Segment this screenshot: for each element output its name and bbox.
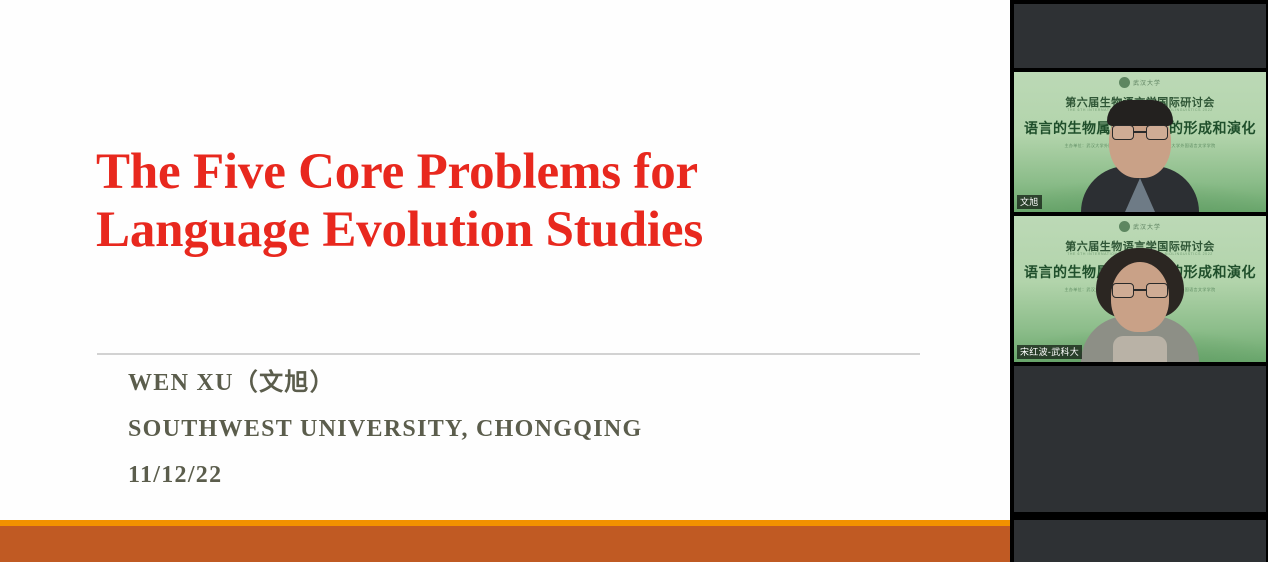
participant-tile[interactable] <box>1014 4 1266 68</box>
university-logo-icon: 武汉大学 <box>1119 221 1161 232</box>
participant-video-person <box>1081 258 1199 362</box>
slide-subtitle-date: 11/12/22 <box>128 452 948 498</box>
slide-subtitle-author: WEN XU（文旭） <box>128 360 948 406</box>
video-feed: 武汉大学 第六届生物语言学国际研讨会 THE 6TH INTERNATIONAL… <box>1014 216 1266 362</box>
participant-name-label: 宋红波-武科大 <box>1017 345 1082 359</box>
slide-subtitle-block: WEN XU（文旭） SOUTHWEST UNIVERSITY, CHONGQI… <box>128 360 948 498</box>
participant-video-person <box>1081 108 1199 212</box>
presentation-slide: The Five Core Problems for Language Evol… <box>0 0 1010 562</box>
slide-accent-band <box>0 526 1010 562</box>
participant-name-label: 文旭 <box>1017 195 1042 209</box>
participant-filmstrip[interactable]: 武汉大学 第六届生物语言学国际研讨会 THE 6TH INTERNATIONAL… <box>1010 0 1268 562</box>
video-feed: 武汉大学 第六届生物语言学国际研讨会 THE 6TH INTERNATIONAL… <box>1014 72 1266 212</box>
university-logo-text: 武汉大学 <box>1133 78 1161 87</box>
slide-divider-rule <box>97 353 920 355</box>
shared-screen-area[interactable]: The Five Core Problems for Language Evol… <box>0 0 1010 562</box>
university-logo-text: 武汉大学 <box>1133 222 1161 231</box>
university-logo-icon: 武汉大学 <box>1119 77 1161 88</box>
video-conference-window: The Five Core Problems for Language Evol… <box>0 0 1268 562</box>
participant-tile[interactable]: 武汉大学 第六届生物语言学国际研讨会 THE 6TH INTERNATIONAL… <box>1014 72 1266 212</box>
eyeglasses-icon <box>1112 283 1168 298</box>
seal-icon <box>1119 221 1130 232</box>
participant-tile[interactable] <box>1014 520 1266 562</box>
participant-tile[interactable]: 武汉大学 第六届生物语言学国际研讨会 THE 6TH INTERNATIONAL… <box>1014 216 1266 362</box>
slide-title: The Five Core Problems for Language Evol… <box>96 143 896 259</box>
participant-tile[interactable] <box>1014 366 1266 512</box>
seal-icon <box>1119 77 1130 88</box>
slide-subtitle-affiliation: SOUTHWEST UNIVERSITY, CHONGQING <box>128 406 948 452</box>
eyeglasses-icon <box>1112 125 1168 140</box>
